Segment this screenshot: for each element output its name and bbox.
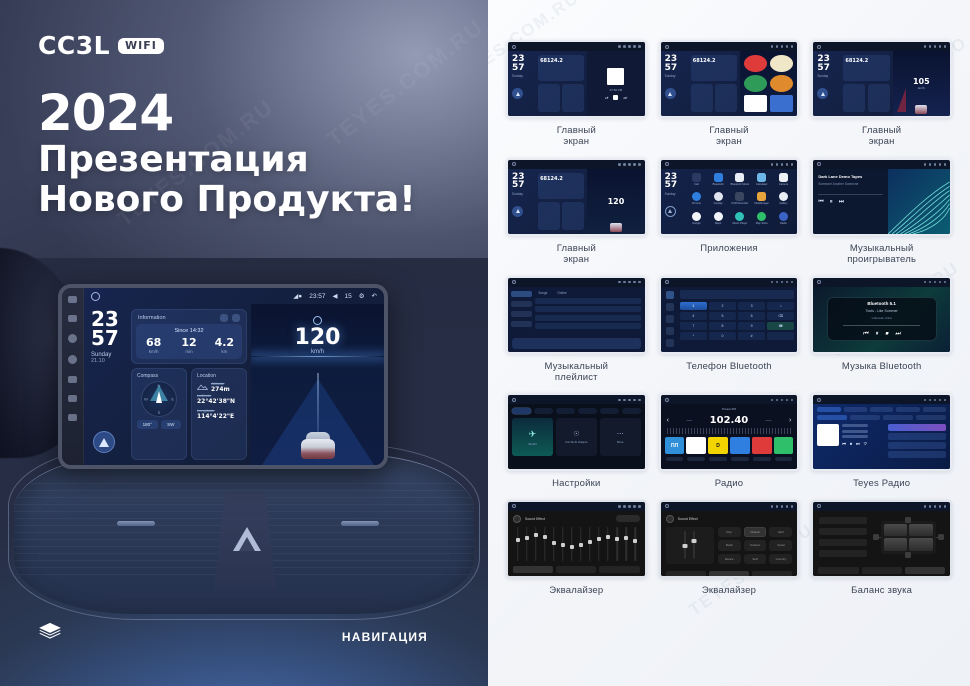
location-card[interactable]: Location Altitude 274m <box>191 368 247 460</box>
stop-icon: ⏹ <box>850 441 852 446</box>
dial-key-9: 9 <box>738 322 765 330</box>
list-item <box>535 298 640 304</box>
thumb-body: ✈WLAN ☉Car Wi-Fi Hotspot ⋯More <box>508 404 645 469</box>
home-circle-icon <box>665 162 669 166</box>
preset-classic: Classic <box>744 527 767 537</box>
head-unit-screen[interactable]: ◢● 23:57 ◀ 15 ⚙ ↶ 23 57 Sunday 21.10 <box>84 288 384 465</box>
balance-footer-tabs[interactable] <box>813 564 950 577</box>
home-circle-icon <box>817 162 821 166</box>
player-track: Dark Lane Demo Tapes <box>818 174 862 179</box>
screenshot-thumb-teyes-radio[interactable]: ⏮⏹⏭♡ <box>811 393 952 471</box>
compass-w: W <box>144 397 148 402</box>
balance-up-button[interactable] <box>905 517 911 523</box>
stat-time-unit: min <box>171 349 206 354</box>
tab-apps <box>578 408 597 414</box>
balance-presets[interactable] <box>819 517 866 558</box>
list-item <box>535 315 640 321</box>
sidebar-dialpad-icon <box>666 291 674 299</box>
information-card[interactable]: Information Since 14:32 68 <box>131 309 247 364</box>
navigation-fab[interactable] <box>93 431 115 453</box>
eq-band <box>623 527 630 561</box>
wifi-icon: ◢● <box>293 292 302 300</box>
thumb-status-bar <box>813 278 950 287</box>
screenshot-thumb-bt-music[interactable]: Bluetooth 5.1 Toots - Like Summer Unknow… <box>811 276 952 354</box>
grid-cell[interactable]: Bluetooth 5.1 Toots - Like Summer Unknow… <box>811 276 952 384</box>
sidebar-recents-icon <box>666 327 674 335</box>
key-power-icon[interactable] <box>68 334 77 343</box>
mini-clock: 2357Sunday <box>661 51 691 116</box>
layers-icon[interactable] <box>38 622 62 642</box>
preset-6 <box>774 437 794 454</box>
car-body <box>301 439 335 459</box>
mini-clock: 2357Sunday <box>508 51 538 116</box>
hotspot-icon: ☉ <box>573 430 579 438</box>
tab-all <box>817 407 840 412</box>
eq2-label: Sound Effect <box>678 517 698 521</box>
trip-stats: 68 km/h 12 min 4.2 km <box>136 337 242 354</box>
app-filemanager[interactable]: FileManager <box>752 192 772 210</box>
preset-1: ПЛ <box>665 437 685 454</box>
mini-widgets: 68124.2 <box>843 51 892 116</box>
eq2-header: Sound Effect <box>661 511 798 525</box>
longitude-value: 114°4'22"E <box>197 413 241 420</box>
eq2-footer-tabs[interactable] <box>661 568 798 578</box>
preset-tiles[interactable]: ПЛ D <box>661 437 798 454</box>
screenshot-thumb-home-drive[interactable]: 2357Sunday 68124.2 105 km/h <box>811 40 952 118</box>
dial-key-2: 2 <box>709 302 736 310</box>
album-art <box>607 68 624 85</box>
list-item <box>535 323 640 329</box>
play-pause-icon[interactable]: ⏸ <box>830 199 833 206</box>
sidebar-item-favorites <box>511 311 532 317</box>
toolbar-settings <box>775 457 793 461</box>
toolbar-search <box>687 457 705 461</box>
settings-cards[interactable]: ✈WLAN ☉Car Wi-Fi Hotspot ⋯More <box>508 418 645 456</box>
horizon-glow <box>251 356 384 357</box>
location-longitude: Longitude 114°4'22"E <box>197 408 241 420</box>
app-camera[interactable]: Camera <box>774 173 794 191</box>
wifi-badge: WIFI <box>118 38 164 54</box>
mountain-icon <box>197 383 208 391</box>
home-circle-icon <box>817 504 821 508</box>
speed-readout: 120 km/h <box>251 316 384 355</box>
dial-key-5: 5 <box>709 312 736 320</box>
tab-fade <box>556 566 596 573</box>
app-dvr-recorder[interactable]: DVR Recorder <box>730 192 750 210</box>
dial-key-4: 4 <box>680 312 707 320</box>
thumb-caption: Эквалайзер <box>549 585 603 596</box>
tab-online: Online <box>557 291 566 295</box>
preset-country: Country <box>769 554 792 564</box>
vent-slot-left <box>117 521 155 526</box>
mini-car-icon <box>915 105 927 114</box>
tab-display <box>556 408 575 414</box>
eq-band-sliders[interactable] <box>508 525 645 563</box>
expand-icon[interactable] <box>232 314 240 322</box>
grid-cell[interactable]: ✈WLAN ☉Car Wi-Fi Hotspot ⋯More Настройки <box>506 393 647 489</box>
home-circle-icon <box>512 504 516 508</box>
preset-front <box>819 528 866 535</box>
eq-preset-icon <box>513 515 521 523</box>
thumb-caption: Эквалайзер <box>702 585 756 596</box>
tab-history <box>923 407 946 412</box>
back-arrow-icon[interactable]: ↶ <box>372 292 377 300</box>
transport-controls: ⏯⏭ <box>605 95 627 100</box>
screenshot-thumb-radio[interactable]: Preset FM ‹ ── 102.40 ── › ПЛ D <box>659 393 800 471</box>
tab-fade <box>709 571 749 578</box>
altitude-value: 274m <box>211 386 230 393</box>
navigation-fab <box>512 88 523 99</box>
screens-grid: 2357Sunday 68124.2 07:50 FM ⏯⏭ Главный э… <box>488 0 970 610</box>
sidebar-item-all <box>511 301 532 307</box>
player-info: Dark Lane Demo Tapes Someone Another Som… <box>813 169 888 234</box>
phone-sidebar[interactable] <box>661 287 680 352</box>
thumb-body: 2357Sunday 68124.2 105 km/h <box>813 51 950 116</box>
dial-pad[interactable]: 123☆ 456⌫ 789☎ *0# <box>680 302 795 340</box>
balance-body <box>813 511 950 564</box>
screenshot-thumb-equalizer-presets[interactable]: Sound Effect PopClassicJazz RockCustomVo… <box>659 500 800 578</box>
bt-progress-bar[interactable] <box>843 325 920 326</box>
card-hotspot[interactable]: ☉Car Wi-Fi Hotspot <box>556 418 597 456</box>
eq-preset-icon <box>666 515 674 523</box>
phone-number-field[interactable] <box>680 290 795 299</box>
volume-level: 15 <box>344 293 351 300</box>
grid-cell[interactable]: 2357Sunday 68124.2 120 Главный экран <box>506 158 647 266</box>
card-wlan[interactable]: ✈WLAN <box>512 418 553 456</box>
mini-radio-freq: 07:50 FM <box>610 88 623 92</box>
app-chrome[interactable]: Chrome <box>687 192 707 210</box>
status-bar-right: ◢● 23:57 ◀ 15 ⚙ ↶ <box>293 292 377 300</box>
fader-sliders[interactable] <box>666 527 714 564</box>
tune-up-icon[interactable]: ── <box>766 418 772 423</box>
balance-pad[interactable] <box>873 517 944 558</box>
grid-cell[interactable]: 2357Sunday 68124.2 Главный экран <box>659 40 800 148</box>
radio-toolbar[interactable] <box>661 454 798 461</box>
prev-track-icon[interactable]: ⏮ <box>863 331 868 338</box>
clock-minutes: 57 <box>91 329 131 348</box>
thumb-body: 2357Sunday 68124.2 <box>661 51 798 116</box>
grid-cell[interactable]: Баланс звука <box>811 500 952 596</box>
app-radio[interactable]: Radio <box>774 212 794 230</box>
stat-distance-unit: km <box>207 349 242 354</box>
thumb-body <box>813 511 950 576</box>
station-list[interactable] <box>888 424 946 460</box>
lane-warning <box>897 88 906 112</box>
bt-track: Toots - Like Summer <box>866 309 898 313</box>
compass-card[interactable]: Compass N S W E 180° <box>131 368 187 460</box>
balance-down-button[interactable] <box>905 552 911 558</box>
toolbar-rds <box>753 457 771 461</box>
grid-cell[interactable]: 2357Sunday 68124.2 07:50 FM ⏯⏭ Главный э… <box>506 40 647 148</box>
subtab-pop <box>850 415 880 420</box>
status-icons <box>618 45 641 48</box>
station-meta: ⏮⏹⏭♡ <box>842 424 885 460</box>
mini-location <box>562 84 584 112</box>
home-circle-icon <box>512 280 516 284</box>
status-time: 23:57 <box>309 293 325 300</box>
product-logo: CC3L WIFI <box>38 31 164 60</box>
eq-band <box>577 527 584 561</box>
home-circle-icon[interactable] <box>91 292 100 301</box>
dial-key-1: 1 <box>680 302 707 310</box>
dial-key-call: ☎ <box>767 322 794 330</box>
sidebar-item-tracks <box>511 291 532 297</box>
thumb-body: SongsOnline <box>508 287 645 352</box>
screenshot-thumb-equalizer[interactable]: Sound Effect <box>506 500 647 578</box>
app-bluetooth-music[interactable]: Bluetooth Music <box>730 173 750 191</box>
key-home-icon[interactable] <box>68 355 77 364</box>
eq-preset-select[interactable] <box>616 515 640 522</box>
grid-cell[interactable]: SongsOnline Музыкальный плейлист <box>506 276 647 384</box>
stat-speed: 68 km/h <box>136 337 171 354</box>
screenshot-thumb-settings[interactable]: ✈WLAN ☉Car Wi-Fi Hotspot ⋯More <box>506 393 647 471</box>
home-circle-icon <box>665 398 669 402</box>
eq-footer-tabs[interactable] <box>508 563 645 576</box>
tab-system <box>622 408 641 414</box>
eq-band <box>559 527 566 561</box>
card-hotspot-label: Car Wi-Fi Hotspot <box>565 440 587 444</box>
thumb-status-bar <box>661 160 798 169</box>
list-item <box>888 424 946 431</box>
tab-songs: Songs <box>538 291 547 295</box>
next-track-icon[interactable]: ⏭ <box>839 199 844 206</box>
app-maps[interactable]: Maps <box>708 212 728 230</box>
dial-key-blank <box>767 332 794 340</box>
teyes-tabs[interactable] <box>813 404 950 412</box>
preset-4 <box>730 437 750 454</box>
playlist-tabs: SongsOnline <box>535 291 640 295</box>
eq-band <box>586 527 593 561</box>
tab-genres <box>844 407 867 412</box>
progress-bar[interactable] <box>818 194 883 196</box>
widgets-row-2: Compass N S W E 180° <box>131 368 247 460</box>
clock-widget: 23 57 Sunday 21.10 <box>84 304 131 465</box>
vent-slot-right <box>341 521 379 526</box>
app-play-store[interactable]: Play Store <box>752 212 772 230</box>
thumb-caption: Баланс звука <box>851 585 912 596</box>
head-unit-device: ◢● 23:57 ◀ 15 ⚙ ↶ 23 57 Sunday 21.10 <box>58 284 388 469</box>
list-item <box>888 442 946 449</box>
card-more-label: More <box>617 440 623 444</box>
key-back-icon[interactable] <box>68 376 77 383</box>
thumb-body: ⏮⏹⏭♡ <box>813 404 950 469</box>
thumb-caption: Главный экран <box>709 125 748 148</box>
screenshot-thumb-home-apps[interactable]: 2357Sunday 68124.2 <box>659 40 800 118</box>
favorite-icon: ♡ <box>864 441 868 446</box>
grid-cell[interactable]: Preset FM ‹ ── 102.40 ── › ПЛ D <box>659 393 800 489</box>
grid-cell[interactable]: 2357Sunday Call Bluetooth Bluetooth Musi… <box>659 158 800 266</box>
screenshot-thumb-home-drive2[interactable]: 2357Sunday 68124.2 120 <box>506 158 647 236</box>
thumb-caption: Радио <box>715 478 743 489</box>
stat-distance-value: 4.2 <box>207 337 242 348</box>
screenshot-thumb-balance[interactable] <box>811 500 952 578</box>
sidebar-item-folders <box>511 321 532 327</box>
preset-buttons[interactable]: PopClassicJazz RockCustomVocal DanceSoft… <box>718 527 793 564</box>
speaker-rr <box>909 538 933 551</box>
clock-date: 21.10 <box>91 358 131 364</box>
car-3d-model <box>301 429 335 459</box>
thumb-caption: Главный экран <box>557 125 596 148</box>
dial-key-hash: # <box>738 332 765 340</box>
card-wlan-label: WLAN <box>528 442 536 446</box>
thumb-caption: Приложения <box>700 243 758 254</box>
bt-artist: Unknown Artist <box>872 316 892 320</box>
balance-right-button[interactable] <box>938 534 944 540</box>
radio-tuner[interactable]: ‹ ── 102.40 ── › <box>661 411 798 426</box>
eq-band <box>632 527 639 561</box>
grid-cell[interactable]: ⏮⏹⏭♡ Teyes Радио <box>811 393 952 489</box>
screenshot-thumb-apps[interactable]: 2357Sunday Call Bluetooth Bluetooth Musi… <box>659 158 800 236</box>
information-header: Information <box>132 310 246 324</box>
hero-title-line1: Презентация <box>38 139 309 180</box>
tune-down-icon[interactable]: ── <box>687 418 693 423</box>
subtab-news <box>883 415 913 420</box>
information-title: Information <box>138 315 166 321</box>
bt-transport-controls[interactable]: ⏮ ⏸ ⏹ ⏭ <box>863 331 901 338</box>
thumb-status-bar <box>661 502 798 511</box>
thumb-body: 2357Sunday Call Bluetooth Bluetooth Musi… <box>661 169 798 234</box>
eq-band <box>614 527 621 561</box>
toolbar-eq <box>709 457 727 461</box>
tab-eq <box>818 567 858 574</box>
bt-music-card: Bluetooth 5.1 Toots - Like Summer Unknow… <box>827 297 937 340</box>
compass-direction: SW <box>161 420 182 429</box>
since-label: Since 14:32 <box>136 328 242 334</box>
frequency-scale[interactable] <box>667 428 792 434</box>
compass-title: Compass <box>137 373 181 379</box>
app-music-player[interactable]: Music Player <box>730 212 750 230</box>
screenshot-thumb-home-music[interactable]: 2357Sunday 68124.2 07:50 FM ⏯⏭ <box>506 40 647 118</box>
thumb-status-bar <box>813 395 950 404</box>
mini-app-shortcuts <box>740 51 797 116</box>
dash-vent-bar <box>14 454 474 614</box>
dial-key-0: 0 <box>709 332 736 340</box>
fader-bass <box>684 531 686 559</box>
head-unit-side-keys[interactable] <box>62 288 84 465</box>
thumb-status-bar <box>661 278 798 287</box>
key-vol-down-icon[interactable] <box>68 395 77 402</box>
mini-speed-unit: km/h <box>918 86 925 90</box>
stop-icon[interactable]: ⏹ <box>885 331 888 338</box>
refresh-icon[interactable] <box>220 314 228 322</box>
thumb-status-bar <box>508 278 645 287</box>
thumb-caption: Настройки <box>552 478 600 489</box>
teyes-subtabs[interactable] <box>813 412 950 420</box>
cruise-control-icon <box>313 316 322 325</box>
gear-icon[interactable]: ⚙ <box>359 292 365 300</box>
preset-dance: Dance <box>718 554 741 564</box>
balance-left-button[interactable] <box>873 534 879 540</box>
location-altitude-text: Altitude 274m <box>211 381 230 393</box>
app-call[interactable]: Call <box>687 173 707 191</box>
chevron-right-icon[interactable]: › <box>789 417 791 424</box>
grid-cell[interactable]: Sound Effect <box>506 500 647 596</box>
eq-band <box>523 527 530 561</box>
screenshot-thumb-player[interactable]: Dark Lane Demo Tapes Someone Another Som… <box>811 158 952 236</box>
transport-controls[interactable]: ⏮ ⏸ ⏭ <box>818 199 883 206</box>
grid-cell[interactable]: 2357Sunday 68124.2 105 km/h Главн <box>811 40 952 148</box>
app-calculator[interactable]: Calculator <box>752 173 772 191</box>
preset-2 <box>686 437 706 454</box>
play-pause-icon[interactable]: ⏸ <box>875 331 878 338</box>
preset-jazz: Jazz <box>769 527 792 537</box>
thumb-status-bar <box>508 395 645 404</box>
thumb-status-bar <box>813 42 950 51</box>
thumb-body: 2357Sunday 68124.2 07:50 FM ⏯⏭ <box>508 51 645 116</box>
eq-preset-label: Sound Effect <box>525 517 545 521</box>
player-artist: Someone Another Someone <box>818 182 858 186</box>
screenshot-thumb-playlist[interactable]: SongsOnline <box>506 276 647 354</box>
tab-cities <box>870 407 893 412</box>
mini-car-icon <box>610 223 622 232</box>
tab-personal <box>600 408 619 414</box>
now-playing-bar[interactable] <box>512 338 641 349</box>
teyes-body: ⏮⏹⏭♡ <box>813 420 950 464</box>
more-icon: ⋯ <box>617 430 624 438</box>
information-body: Since 14:32 68 km/h 12 min <box>136 324 242 359</box>
home-circle-icon <box>817 398 821 402</box>
dial-key-6: 6 <box>738 312 765 320</box>
navigation-label: НАВИГАЦИЯ <box>342 630 428 644</box>
eq-band <box>568 527 575 561</box>
compass-readout: 180° SW <box>137 420 181 429</box>
thumb-status-bar <box>661 42 798 51</box>
dial-key-asterisk: * <box>680 332 707 340</box>
app-grid[interactable]: Call Bluetooth Bluetooth Music Calculato… <box>683 169 798 234</box>
eq-band <box>532 527 539 561</box>
prev-track-icon[interactable]: ⏮ <box>818 199 823 206</box>
grid-cell[interactable]: Dark Lane Demo Tapes Someone Another Som… <box>811 158 952 266</box>
station-controls[interactable]: ⏮⏹⏭♡ <box>842 441 885 446</box>
preset-vocal: Vocal <box>769 540 792 550</box>
grid-cell[interactable]: 123☆ 456⌫ 789☎ *0# Телефон Bluetooth <box>659 276 800 384</box>
information-actions[interactable] <box>220 314 240 322</box>
home-circle-icon <box>665 45 669 49</box>
key-mute-icon[interactable] <box>68 296 77 303</box>
card-more[interactable]: ⋯More <box>600 418 641 456</box>
stat-time-value: 12 <box>171 337 206 348</box>
compass-dial: N S W E <box>141 381 177 417</box>
key-vol-up-icon[interactable] <box>68 414 77 421</box>
next-track-icon[interactable]: ⏭ <box>895 331 900 338</box>
latitude-value: 22°42'38"N <box>197 398 241 405</box>
list-item <box>888 451 946 458</box>
sidebar-settings-icon <box>666 339 674 347</box>
app-bluetooth[interactable]: Bluetooth <box>708 173 728 191</box>
drive-view[interactable]: 120 km/h <box>251 304 384 465</box>
screenshot-thumb-dialer[interactable]: 123☆ 456⌫ 789☎ *0# <box>659 276 800 354</box>
radio-band: Preset FM <box>661 404 798 411</box>
tab-wlan <box>512 408 531 414</box>
key-mode-icon[interactable] <box>68 315 77 322</box>
app-carplay[interactable]: Carplay <box>708 192 728 210</box>
mini-info-card: 68124.2 <box>538 55 584 81</box>
location-altitude: Altitude 274m <box>197 381 241 393</box>
app-google[interactable]: Google <box>687 212 707 230</box>
grid-cell[interactable]: Sound Effect PopClassicJazz RockCustomVo… <box>659 500 800 596</box>
chevron-left-icon[interactable]: ‹ <box>667 417 669 424</box>
home-circle-icon <box>512 398 516 402</box>
compass-s: S <box>158 410 161 415</box>
settings-tabs[interactable] <box>508 404 645 418</box>
speaker-grid <box>881 521 936 554</box>
app-gallery[interactable]: Gallery <box>774 192 794 210</box>
home-circle-icon <box>512 45 516 49</box>
wifi-icon: ✈ <box>529 429 537 440</box>
tab-eq <box>666 571 706 578</box>
mini-compass <box>538 84 560 112</box>
dialer-main: 123☆ 456⌫ 789☎ *0# <box>680 287 798 352</box>
